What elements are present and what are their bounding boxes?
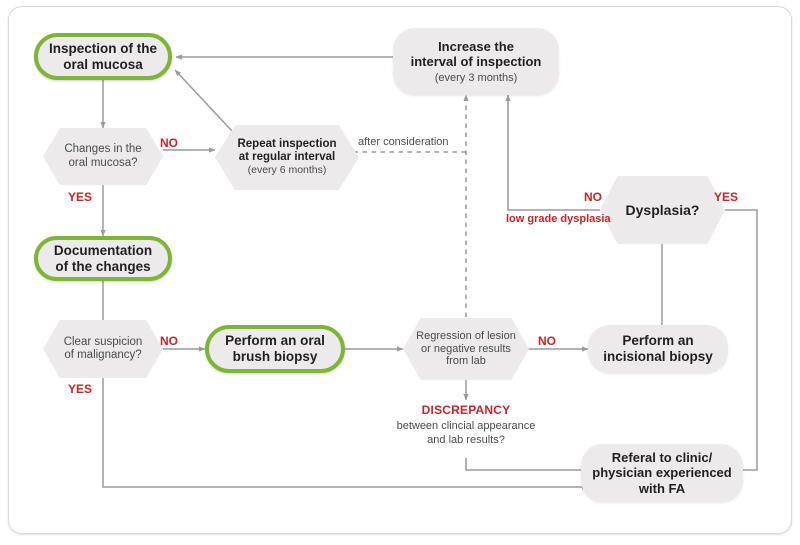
edge-label-dysplasia-no-sub: low grade dysplasia	[506, 213, 611, 225]
edge-label-dysplasia-yes: YES	[714, 190, 738, 204]
node-suspicion-line1: Clear suspicion	[64, 336, 143, 348]
node-incisional-line2: incisional biopsy	[603, 349, 713, 364]
node-increase-interval-of-inspection[interactable]: Increase the interval of inspection (eve…	[393, 28, 559, 95]
node-regression-of-lesion[interactable]: Regression of lesion or negative results…	[403, 318, 529, 380]
node-repeat-inspection[interactable]: Repeat inspection at regular interval (e…	[215, 125, 359, 190]
node-regression-line1: Regression of lesion	[416, 330, 516, 342]
node-regression-line3: from lab	[446, 355, 486, 367]
edge-label-suspicion-no: NO	[160, 334, 178, 348]
node-inspection-line2: oral mucosa	[63, 57, 143, 72]
node-changes-line2: oral mucosa?	[68, 157, 137, 169]
node-dysplasia[interactable]: Dysplasia?	[600, 176, 725, 244]
edge-label-changes-yes: YES	[68, 190, 92, 204]
node-repeat-line2: at regular interval	[239, 151, 336, 163]
node-referral-line2: physician experienced	[592, 465, 731, 480]
flowchart-canvas: Inspection of the oral mucosa Increase t…	[0, 0, 800, 545]
discrepancy-annotation: DISCREPANCY between clincial appearance …	[366, 403, 566, 448]
edge-label-dysplasia-no: NO	[584, 190, 602, 204]
edge-label-changes-no: NO	[160, 136, 178, 150]
node-documentation-line1: Documentation	[54, 243, 152, 258]
edge-label-regression-no: NO	[538, 334, 556, 348]
edge-label-suspicion-yes: YES	[68, 382, 92, 396]
node-clear-suspicion-of-malignancy[interactable]: Clear suspicion of malignancy?	[43, 320, 163, 378]
node-documentation-line2: of the changes	[55, 259, 150, 274]
discrepancy-title: DISCREPANCY	[366, 403, 566, 417]
discrepancy-line1: between clincial appearance	[366, 419, 566, 433]
node-inspection-line1: Inspection of the	[49, 41, 157, 56]
node-changes-line1: Changes in the	[64, 143, 141, 155]
node-documentation-of-changes[interactable]: Documentation of the changes	[34, 236, 172, 281]
node-regression-line2: or negative results	[421, 343, 511, 355]
node-brush-line2: brush biopsy	[233, 349, 318, 364]
node-increase-line3: (every 3 months)	[435, 72, 518, 84]
discrepancy-line2: and lab results?	[366, 433, 566, 447]
node-repeat-line1: Repeat inspection	[237, 138, 336, 150]
node-referral-line1: Referal to clinic/	[612, 450, 712, 465]
node-brush-line1: Perform an oral	[225, 333, 325, 348]
node-perform-incisional-biopsy[interactable]: Perform an incisional biopsy	[588, 325, 728, 373]
edge-label-after-consideration: after consideration	[358, 136, 449, 148]
node-incisional-line1: Perform an	[622, 333, 693, 348]
node-increase-line2: interval of inspection	[411, 54, 542, 69]
node-referral-to-clinic[interactable]: Referal to clinic/ physician experienced…	[581, 444, 743, 502]
node-dysplasia-line1: Dysplasia?	[626, 202, 700, 218]
node-referral-line3: with FA	[639, 481, 685, 496]
node-repeat-line3: (every 6 months)	[248, 164, 327, 176]
node-changes-in-oral-mucosa[interactable]: Changes in the oral mucosa?	[43, 128, 163, 185]
node-inspection-of-oral-mucosa[interactable]: Inspection of the oral mucosa	[34, 33, 172, 80]
node-perform-oral-brush-biopsy[interactable]: Perform an oral brush biopsy	[205, 325, 345, 373]
node-suspicion-line2: of malignancy?	[64, 349, 141, 361]
node-increase-line1: Increase the	[438, 39, 514, 54]
